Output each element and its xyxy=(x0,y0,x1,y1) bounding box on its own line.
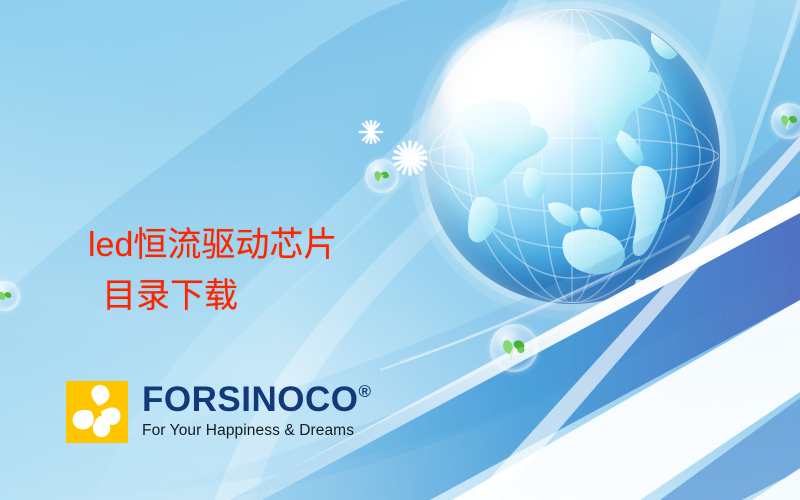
green-sprout-icon xyxy=(0,289,14,305)
company-logo: FORSINOCO ® For Your Happiness & Dreams xyxy=(66,381,371,443)
headline-line-2: 目录下载 xyxy=(88,271,508,323)
logo-wordmark: FORSINOCO ® For Your Happiness & Dreams xyxy=(142,381,371,440)
headline-line-1: led恒流驱动芯片 xyxy=(88,226,337,264)
four-petal-pinwheel-mark xyxy=(66,381,128,443)
brand-text: FORSINOCO xyxy=(142,382,358,417)
bubble-sprout-right xyxy=(771,103,800,139)
registered-trademark-icon: ® xyxy=(358,383,371,400)
headline: led恒流驱动芯片 目录下载 xyxy=(88,168,508,375)
banner-image: led恒流驱动芯片 目录下载 FORSINOCO ® xyxy=(0,0,800,500)
brand-name: FORSINOCO ® xyxy=(142,382,371,417)
pinwheel-petals-icon xyxy=(66,381,128,443)
green-sprout-icon xyxy=(778,112,800,131)
starburst-small-icon xyxy=(358,119,384,145)
brand-tagline: For Your Happiness & Dreams xyxy=(142,422,371,440)
